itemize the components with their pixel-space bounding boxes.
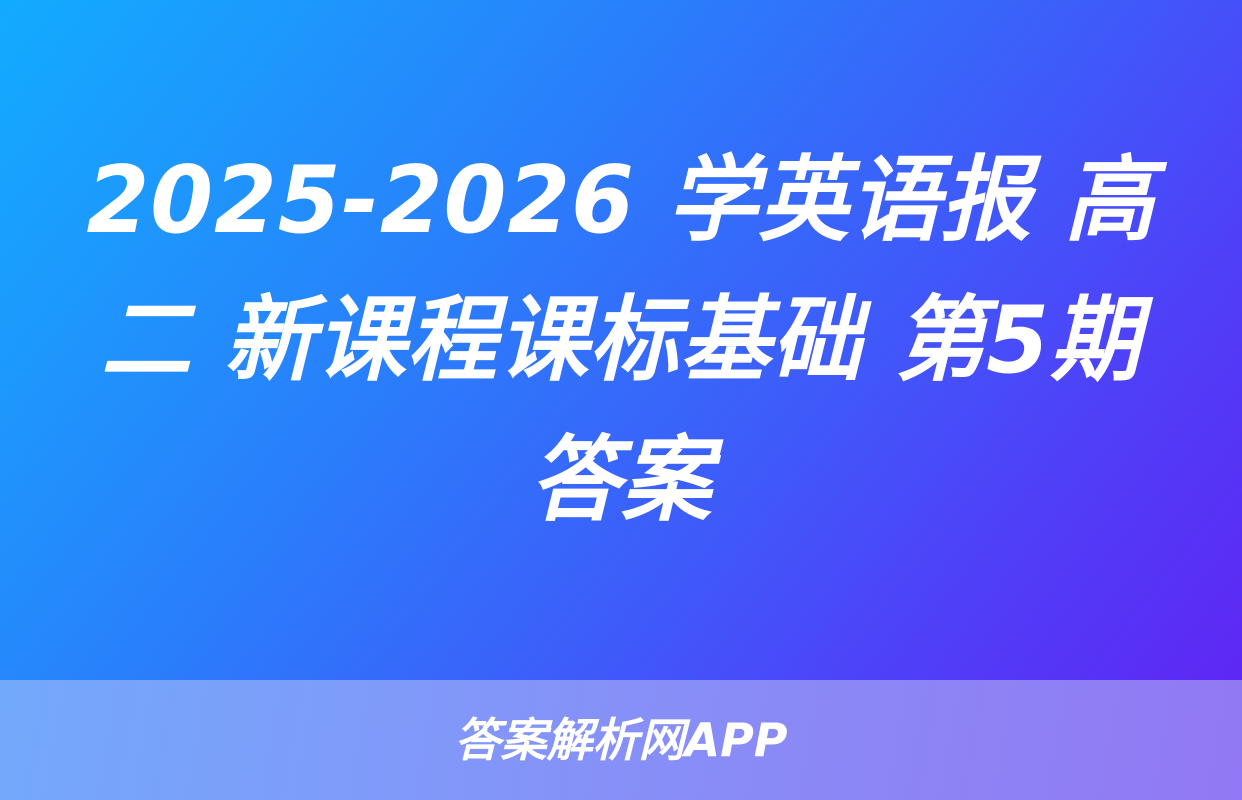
page-title: 2025-2026 学英语报 高二 新课程课标基础 第5期答案 <box>79 130 1163 550</box>
footer-brand-area: 答案解析网APP <box>0 680 1242 800</box>
poster-title-area: 2025-2026 学英语报 高二 新课程课标基础 第5期答案 <box>0 0 1242 680</box>
poster-canvas: 2025-2026 学英语报 高二 新课程课标基础 第5期答案 答案解析网APP <box>0 0 1242 800</box>
brand-watermark: 答案解析网APP <box>454 717 787 763</box>
